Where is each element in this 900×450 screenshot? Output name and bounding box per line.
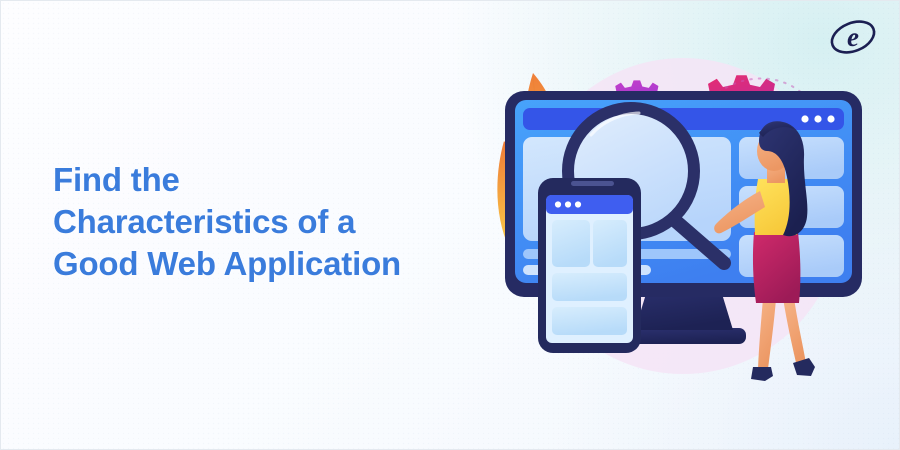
phone-block-3 [552, 273, 627, 301]
window-dot [814, 115, 821, 122]
smartphone [538, 178, 641, 353]
phone-window-dot [555, 201, 561, 207]
headline-line-3: Good Web Application [53, 243, 473, 285]
phone-window-dot [565, 201, 571, 207]
phone-block-1 [552, 220, 590, 267]
window-dot [827, 115, 834, 122]
skirt [753, 232, 800, 303]
phone-block-2 [593, 220, 627, 267]
page-title: Find the Characteristics of a Good Web A… [53, 159, 473, 285]
headline-line-2: Characteristics of a [53, 201, 473, 243]
phone-block-4 [552, 307, 627, 335]
orbiting-e-logo[interactable]: e [825, 11, 881, 63]
phone-speaker [571, 181, 614, 186]
banner: Find the Characteristics of a Good Web A… [0, 0, 900, 450]
window-dot [801, 115, 808, 122]
logo-letter: e [847, 22, 859, 52]
shoe-left [751, 367, 773, 381]
logo-icon: e [825, 11, 881, 63]
phone-window-dot [575, 201, 581, 207]
web-application-review-illustration [471, 1, 900, 450]
headline-line-1: Find the [53, 159, 473, 201]
